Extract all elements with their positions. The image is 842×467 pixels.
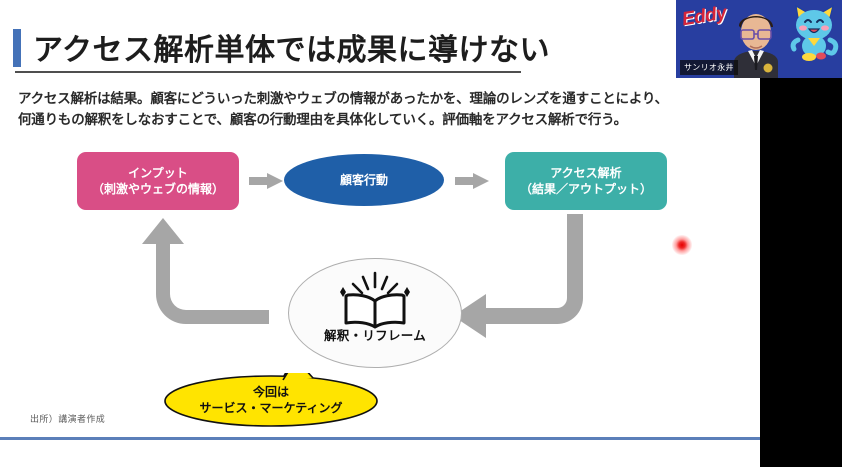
source-note: 出所）講演者作成 — [30, 412, 105, 425]
participant-name-label: サンリオ永井 — [680, 60, 738, 75]
callout-line1: 今回は — [163, 384, 379, 400]
diagram-box-customer-behavior: 顧客行動 — [284, 154, 444, 206]
slide-body-text: アクセス解析は結果。顧客にどういった刺激やウェブの情報があったかを、理論のレンズ… — [18, 88, 688, 130]
black-background-panel — [760, 78, 842, 467]
analysis-box-line1: アクセス解析 — [520, 165, 652, 181]
laser-pointer-dot — [672, 235, 692, 255]
footer-bar: © 2026 Takashi Nagai All rights reserved… — [0, 440, 760, 467]
title-underline — [15, 71, 521, 73]
open-book-sparkle-icon — [329, 271, 421, 329]
video-overlay-text: Eddy — [681, 3, 728, 32]
callout-line2: サービス・マーケティング — [163, 400, 379, 416]
body-line-2: 何通りもの解釈をしなおすことで、顧客の行動理由を具体化していく。評価軸をアクセス… — [18, 109, 688, 130]
input-box-line2: （刺激やウェブの情報） — [92, 181, 224, 197]
chevron-right-icon — [455, 173, 489, 189]
circle-label: 解釈・リフレーム — [289, 325, 461, 344]
body-line-1: アクセス解析は結果。顧客にどういった刺激やウェブの情報があったかを、理論のレンズ… — [18, 88, 688, 109]
slide-title-block: アクセス解析単体では成果に導けない — [13, 26, 633, 72]
diagram-box-input: インプット （刺激やウェブの情報） — [77, 152, 239, 210]
elbow-arrow-circle-to-input-icon — [139, 214, 269, 346]
blue-cat-character-icon — [788, 4, 840, 64]
callout-text: 今回は サービス・マーケティング — [163, 384, 379, 416]
elbow-arrow-analysis-to-circle-icon — [441, 212, 616, 342]
behavior-box-line1: 顧客行動 — [340, 172, 388, 188]
page-title: アクセス解析単体では成果に導けない — [33, 25, 550, 69]
diagram-box-access-analysis: アクセス解析 （結果／アウトプット） — [505, 152, 667, 210]
input-box-line1: インプット — [92, 165, 224, 181]
analysis-box-line2: （結果／アウトプット） — [520, 181, 652, 197]
yellow-callout-balloon: 今回は サービス・マーケティング — [163, 373, 379, 427]
presentation-slide: アクセス解析単体では成果に導けない アクセス解析は結果。顧客にどういった刺激やウ… — [0, 0, 842, 467]
video-participant-tile[interactable]: Eddy — [676, 0, 842, 78]
diagram-circle-reframe: 解釈・リフレーム — [288, 258, 462, 368]
title-accent-bar — [13, 29, 21, 67]
chevron-right-icon — [249, 173, 283, 189]
